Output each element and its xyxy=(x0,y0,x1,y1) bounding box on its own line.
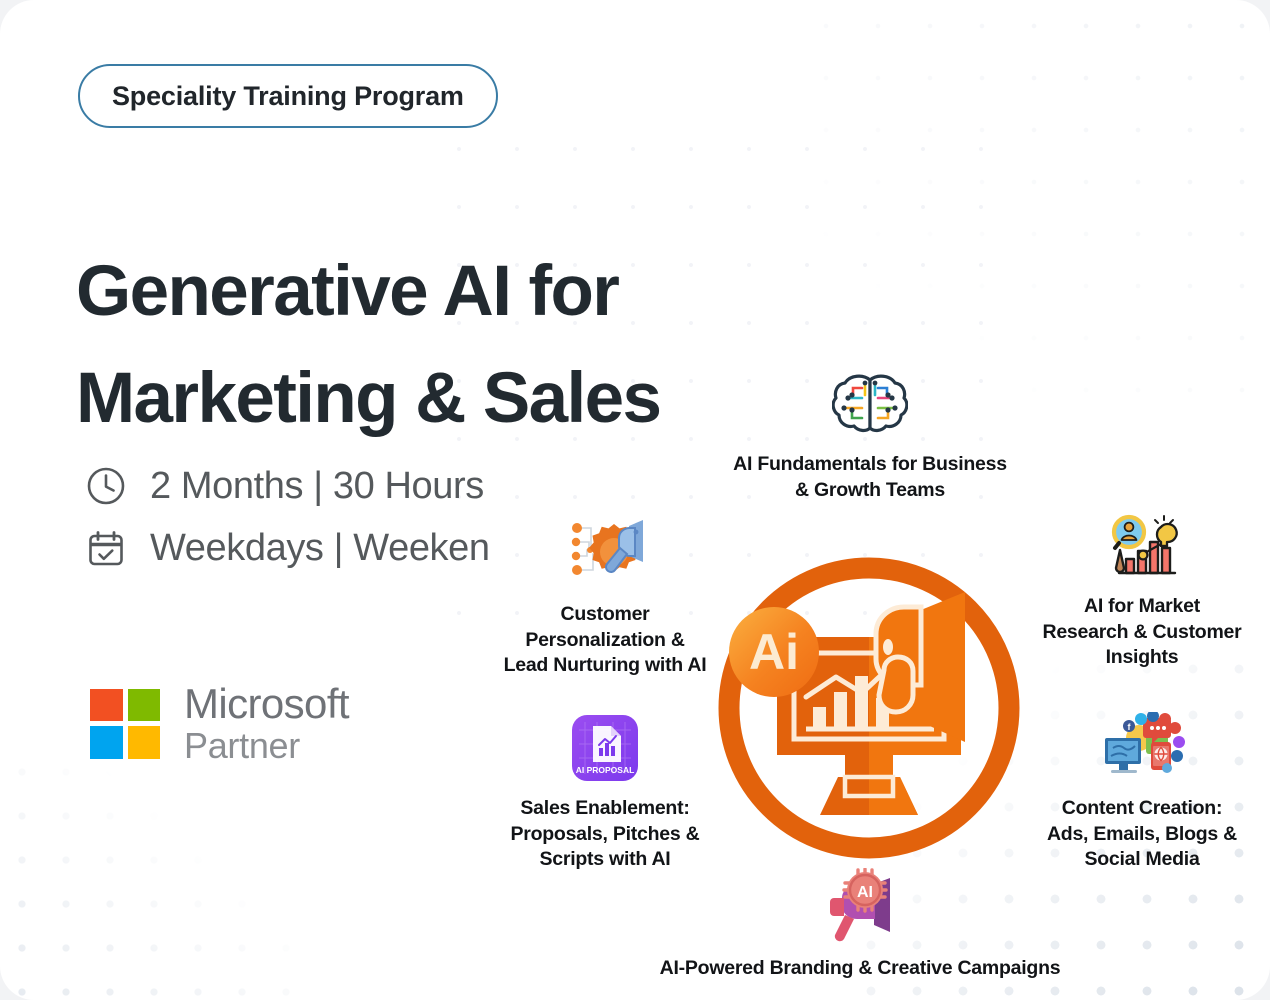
calendar-icon xyxy=(84,526,128,570)
module-customer-personalization[interactable]: Customer Personalization & Lead Nurturin… xyxy=(485,512,725,679)
microsoft-wordmark-line-1: Microsoft xyxy=(184,683,349,726)
module-ai-branding-label: AI-Powered Branding & Creative Campaigns xyxy=(645,956,1075,982)
module-customer-personalization-label: Customer Personalization & Lead Nurturin… xyxy=(485,602,725,679)
microsoft-partner-logo: Microsoft Partner xyxy=(90,683,349,765)
multi-device-social-content-icon: f xyxy=(1022,712,1262,787)
ai-branding-icon-caption: AI xyxy=(857,884,873,901)
microsoft-logo-icon xyxy=(90,689,160,759)
course-meta: 2 Months | 30 Hours Weekdays | Weeken xyxy=(84,455,490,579)
program-type-badge: Speciality Training Program xyxy=(78,64,498,128)
clock-icon xyxy=(84,464,128,508)
module-market-research-label: AI for Market Research & Customer Insigh… xyxy=(1022,594,1262,671)
microsoft-partner-wordmark: Microsoft Partner xyxy=(184,683,349,765)
gear-megaphone-personalization-icon xyxy=(485,512,725,593)
page-title-line-1: Generative AI for xyxy=(76,252,618,331)
module-content-creation[interactable]: f Content Creation: Ads, Emails, Blogs &… xyxy=(1022,712,1262,873)
module-sales-enablement-label: Sales Enablement: Proposals, Pitches & S… xyxy=(490,796,720,873)
course-duration-row: 2 Months | 30 Hours xyxy=(84,455,490,517)
module-sales-enablement[interactable]: AI PROPOSAL Sales Enablement: Proposals,… xyxy=(490,714,720,873)
magnifier-insights-chart-icon xyxy=(1022,512,1262,585)
center-ai-marketing-graphic: Ai xyxy=(716,552,1022,864)
background-dot-pattern-top-right xyxy=(800,0,1270,430)
ai-proposal-icon-caption: AI PROPOSAL xyxy=(576,765,635,775)
program-type-badge-label: Speciality Training Program xyxy=(112,81,464,112)
page-title: Generative AI for Marketing & Sales xyxy=(76,238,776,454)
module-ai-fundamentals[interactable]: AI Fundamentals for Business & Growth Te… xyxy=(700,374,1040,503)
microsoft-wordmark-line-2: Partner xyxy=(184,728,349,765)
background-dot-pattern-bottom-left xyxy=(0,750,300,1000)
course-schedule-text: Weekdays | Weeken xyxy=(150,527,490,570)
module-market-research[interactable]: AI for Market Research & Customer Insigh… xyxy=(1022,512,1262,671)
ai-megaphone-branding-icon: AI xyxy=(645,868,1075,947)
course-duration-text: 2 Months | 30 Hours xyxy=(150,465,484,508)
module-ai-branding[interactable]: AI AI-Powered Branding & Creative Campai… xyxy=(645,868,1075,982)
module-content-creation-label: Content Creation: Ads, Emails, Blogs & S… xyxy=(1022,796,1262,873)
course-schedule-row: Weekdays | Weeken xyxy=(84,517,490,579)
center-ai-badge-text: Ai xyxy=(749,624,799,680)
module-ai-fundamentals-label: AI Fundamentals for Business & Growth Te… xyxy=(700,452,1040,503)
poster-canvas: Speciality Training Program Generative A… xyxy=(0,0,1270,1000)
ai-proposal-document-icon: AI PROPOSAL xyxy=(490,714,720,787)
circuit-brain-icon xyxy=(700,374,1040,443)
page-title-line-2: Marketing & Sales xyxy=(76,345,776,453)
